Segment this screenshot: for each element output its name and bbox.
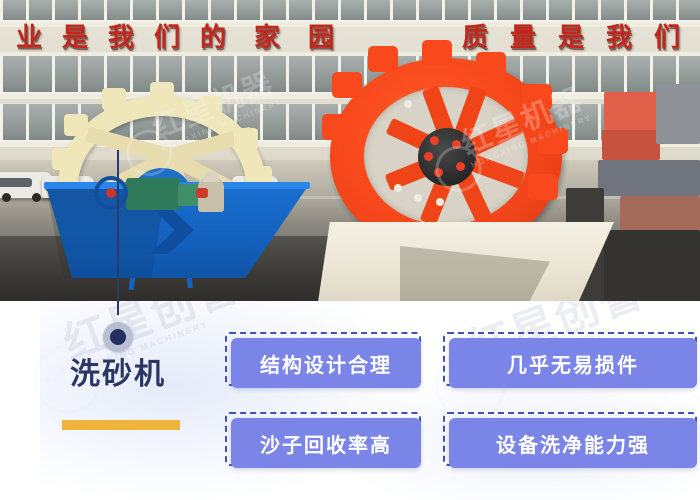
stacked-part [656,84,700,144]
banner-left-char: 的 [200,20,226,56]
wheel-bucket [322,114,352,140]
feature-label: 沙子回收率高 [231,418,421,468]
feature-label: 几乎无易损件 [449,338,697,388]
wheel-bucket [64,114,88,136]
rim-bolt [394,184,402,192]
banner-left-char: 们 [154,20,180,56]
gear-motor [126,178,180,210]
wheel-bucket [332,72,362,98]
banner-left-char: 业 [16,20,42,56]
banner-left-char: 园 [308,20,334,56]
car-window [0,178,32,187]
banner-right-char: 们 [654,20,680,56]
stacked-part [620,196,700,230]
banner-right-char: 是 [558,20,584,56]
wheel-bucket [368,46,398,72]
rim-bolt [414,194,422,202]
rim-bolt [404,100,412,108]
banner-left-char: 家 [254,20,280,56]
product-photo: 业 是 我 们 的 家 园 质 量 是 我 们 [0,0,700,301]
window-mullions [0,0,700,22]
wheel-bucket [52,148,76,170]
stacked-part [596,230,700,301]
banner-right-char: 我 [606,20,632,56]
banner-left-char: 是 [62,20,88,56]
title-accent-bar [62,420,180,430]
window-row-top [0,0,700,22]
marker-dot-icon [110,329,126,345]
feature-label: 结构设计合理 [231,338,421,388]
product-feature-card: 业 是 我 们 的 家 园 质 量 是 我 们 [0,0,700,500]
handwheel-hub [106,188,116,198]
car-wheel [2,193,11,202]
banner-left: 业 是 我 们 的 家 园 质 量 是 我 们 [0,20,700,56]
banner-right-char: 量 [510,20,536,56]
wheel-bucket [150,82,174,104]
hub-bolt [430,136,439,145]
hub-bolt [424,152,433,161]
banner-right-char: 质 [462,20,488,56]
wheel-bucket [102,88,126,110]
connector-line [117,150,119,315]
wheel-bucket [476,52,506,78]
rim-bolt [436,198,444,206]
wheel-bucket [422,40,452,66]
feature-label: 设备洗净能力强 [449,418,697,468]
banner-left-char: 我 [108,20,134,56]
page-title: 洗砂机 [70,358,166,392]
car-wheel [32,193,41,202]
